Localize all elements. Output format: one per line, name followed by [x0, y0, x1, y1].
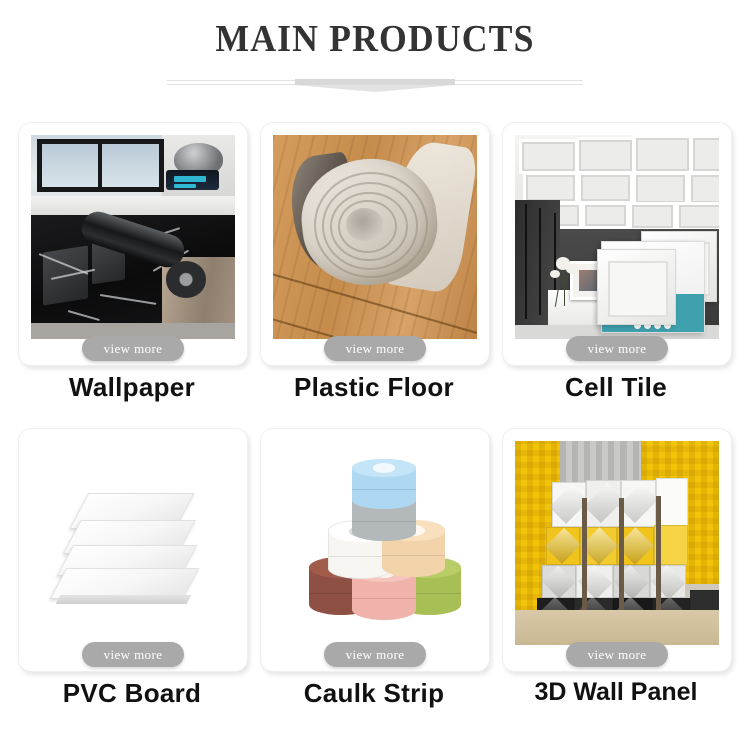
card-frame: view more — [260, 428, 490, 672]
product-grid: view more Wallpaper — [18, 122, 732, 734]
card-frame: 2ft x 2ft 12" Ceiling Tile view more — [502, 122, 732, 366]
product-label-pvc-board: PVC Board — [18, 678, 246, 709]
view-more-button-3d-wall-panel[interactable]: view more — [566, 642, 668, 667]
view-more-button-pvc-board[interactable]: view more — [82, 642, 184, 667]
product-card-cell-tile[interactable]: 2ft x 2ft 12" Ceiling Tile view more Cel… — [502, 122, 732, 428]
product-image-wallpaper — [31, 135, 235, 339]
product-label-wallpaper: Wallpaper — [18, 372, 246, 403]
product-card-3d-wall-panel[interactable]: view more 3D Wall Panel — [502, 428, 732, 734]
page-header: MAIN PRODUCTS — [0, 0, 750, 92]
divider-ribbon-tail — [295, 85, 455, 92]
product-label-cell-tile: Cell Tile — [502, 372, 730, 403]
product-label-caulk-strip: Caulk Strip — [260, 678, 488, 709]
product-image-caulk-strip — [262, 430, 488, 656]
caulk-roll — [352, 459, 415, 509]
card-frame: view more — [260, 122, 490, 366]
card-frame: view more — [18, 428, 248, 672]
product-card-wallpaper[interactable]: view more Wallpaper — [18, 122, 248, 428]
product-card-caulk-strip[interactable]: view more Caulk Strip — [260, 428, 490, 734]
product-card-pvc-board[interactable]: view more PVC Board — [18, 428, 248, 734]
view-more-button-caulk-strip[interactable]: view more — [324, 642, 426, 667]
card-frame: view more — [502, 428, 732, 672]
view-more-button-cell-tile[interactable]: view more — [566, 336, 668, 361]
product-image-cell-tile: 2ft x 2ft 12" Ceiling Tile — [515, 135, 719, 339]
product-card-plastic-floor[interactable]: view more Plastic Floor — [260, 122, 490, 428]
product-label-3d-wall-panel: 3D Wall Panel — [502, 678, 730, 707]
product-image-plastic-floor — [273, 135, 477, 339]
ribbon-divider-icon — [167, 74, 583, 92]
product-label-plastic-floor: Plastic Floor — [260, 372, 488, 403]
view-more-button-wallpaper[interactable]: view more — [82, 336, 184, 361]
product-image-3d-wall-panel — [515, 441, 719, 645]
view-more-button-plastic-floor[interactable]: view more — [324, 336, 426, 361]
product-image-pvc-board — [20, 430, 246, 656]
page-title: MAIN PRODUCTS — [23, 19, 728, 59]
card-frame: view more — [18, 122, 248, 366]
